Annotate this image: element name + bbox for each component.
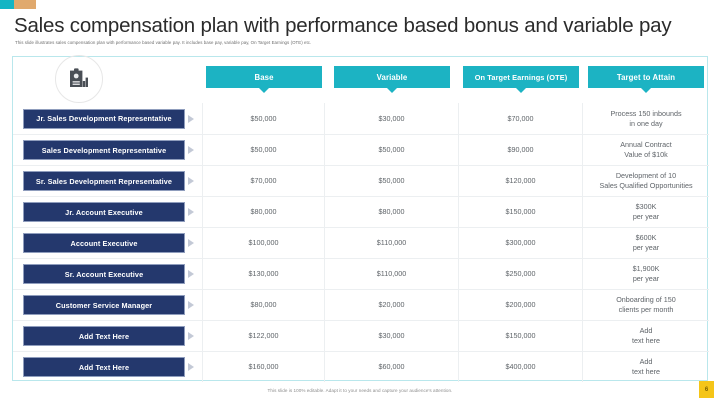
page-title: Sales compensation plan with performance…	[14, 14, 704, 38]
row-label-chip[interactable]: Jr. Account Executive	[23, 202, 185, 222]
cell-target: $600K per year	[583, 228, 709, 258]
table-header-row: Base Variable On Target Earnings (OTE) T…	[13, 57, 709, 103]
cell-variable: $50,000	[325, 166, 459, 196]
arrow-right-icon	[188, 239, 194, 247]
cell-target-line2: per year	[633, 274, 660, 284]
cell-target: $1,900K per year	[583, 259, 709, 289]
table-row: Add Text Here $160,000 $60,000 $400,000 …	[13, 351, 709, 382]
row-label-chip[interactable]: Customer Service Manager	[23, 295, 185, 315]
arrow-right-icon	[188, 301, 194, 309]
cell-variable: $50,000	[325, 135, 459, 165]
table-row: Sales Development Representative $50,000…	[13, 134, 709, 165]
page-subtitle: This slide illustrates sales compensatio…	[15, 40, 675, 45]
column-header-notch	[641, 88, 651, 93]
cell-variable: $20,000	[325, 290, 459, 320]
cell-variable: $110,000	[325, 259, 459, 289]
arrow-right-icon	[188, 363, 194, 371]
cell-target: Annual Contract Value of $10k	[583, 135, 709, 165]
cell-ote: $250,000	[459, 259, 583, 289]
row-label-cell: Jr. Sales Development Representative	[13, 103, 203, 134]
page-number-badge: 6	[699, 381, 714, 398]
cell-target-line1: $1,900K	[633, 264, 660, 274]
cell-target-line1: Process 150 inbounds	[610, 109, 681, 119]
table-row: Sr. Sales Development Representative $70…	[13, 165, 709, 196]
cell-base: $130,000	[203, 259, 325, 289]
arrow-right-icon	[188, 146, 194, 154]
row-label-cell: Account Executive	[13, 228, 203, 258]
cell-target-line1: $600K	[633, 233, 659, 243]
cell-target: $300K per year	[583, 197, 709, 227]
row-label-chip[interactable]: Add Text Here	[23, 326, 185, 346]
row-label-cell: Customer Service Manager	[13, 290, 203, 320]
arrow-right-icon	[188, 177, 194, 185]
row-label-chip[interactable]: Add Text Here	[23, 357, 185, 377]
cell-target: Process 150 inbounds in one day	[583, 103, 709, 134]
corner-bar-teal	[0, 0, 14, 9]
cell-base: $80,000	[203, 197, 325, 227]
table-row: Jr. Account Executive $80,000 $80,000 $1…	[13, 196, 709, 227]
cell-variable: $30,000	[325, 103, 459, 134]
comp-plan-table: Base Variable On Target Earnings (OTE) T…	[12, 56, 708, 381]
column-header-variable: Variable	[325, 57, 459, 103]
cell-base: $50,000	[203, 103, 325, 134]
row-label-chip[interactable]: Sr. Sales Development Representative	[23, 171, 185, 191]
cell-target-line2: text here	[632, 336, 660, 346]
cell-base: $160,000	[203, 352, 325, 382]
row-label-cell: Sr. Sales Development Representative	[13, 166, 203, 196]
cell-base: $80,000	[203, 290, 325, 320]
cell-variable: $30,000	[325, 321, 459, 351]
table-row: Customer Service Manager $80,000 $20,000…	[13, 289, 709, 320]
cell-ote: $200,000	[459, 290, 583, 320]
cell-target-line2: in one day	[610, 119, 681, 129]
table-row: Account Executive $100,000 $110,000 $300…	[13, 227, 709, 258]
cell-target-line2: per year	[633, 243, 659, 253]
corner-bar-orange	[14, 0, 36, 9]
cell-target-line1: Add	[632, 326, 660, 336]
column-header-target-label: Target to Attain	[588, 66, 704, 88]
cell-ote: $400,000	[459, 352, 583, 382]
arrow-right-icon	[188, 115, 194, 123]
cell-base: $122,000	[203, 321, 325, 351]
row-label-chip[interactable]: Jr. Sales Development Representative	[23, 109, 185, 129]
table-row: Sr. Account Executive $130,000 $110,000 …	[13, 258, 709, 289]
row-label-cell: Sr. Account Executive	[13, 259, 203, 289]
arrow-right-icon	[188, 332, 194, 340]
cell-target-line2: Value of $10k	[620, 150, 672, 160]
column-header-ote: On Target Earnings (OTE)	[459, 57, 583, 103]
column-header-notch	[259, 88, 269, 93]
column-header-base-label: Base	[206, 66, 322, 88]
cell-target: Development of 10 Sales Qualified Opport…	[583, 166, 709, 196]
row-label-chip[interactable]: Sr. Account Executive	[23, 264, 185, 284]
cell-target-line1: Annual Contract	[620, 140, 672, 150]
cell-target-line1: Add	[632, 357, 660, 367]
row-label-chip[interactable]: Account Executive	[23, 233, 185, 253]
slide-canvas: Sales compensation plan with performance…	[0, 0, 720, 404]
cell-ote: $120,000	[459, 166, 583, 196]
cell-target-line2: per year	[633, 212, 659, 222]
header-icon-cell	[13, 57, 203, 103]
table-row: Add Text Here $122,000 $30,000 $150,000 …	[13, 320, 709, 351]
cell-ote: $150,000	[459, 321, 583, 351]
column-header-base: Base	[203, 57, 325, 103]
cell-target-line1: $300K	[633, 202, 659, 212]
cell-target-line1: Onboarding of 150	[616, 295, 676, 305]
clipboard-chart-icon	[55, 55, 103, 103]
cell-ote: $300,000	[459, 228, 583, 258]
column-header-target: Target to Attain	[583, 57, 709, 103]
cell-ote: $150,000	[459, 197, 583, 227]
cell-ote: $90,000	[459, 135, 583, 165]
footer-note: This slide is 100% editable. Adapt it to…	[0, 388, 720, 393]
row-label-cell: Add Text Here	[13, 352, 203, 382]
arrow-right-icon	[188, 208, 194, 216]
row-label-cell: Jr. Account Executive	[13, 197, 203, 227]
cell-target-line2: clients per month	[616, 305, 676, 315]
cell-ote: $70,000	[459, 103, 583, 134]
row-label-chip[interactable]: Sales Development Representative	[23, 140, 185, 160]
cell-base: $100,000	[203, 228, 325, 258]
row-label-cell: Add Text Here	[13, 321, 203, 351]
table-row: Jr. Sales Development Representative $50…	[13, 103, 709, 134]
cell-target-line2: Sales Qualified Opportunities	[599, 181, 692, 191]
column-header-variable-label: Variable	[334, 66, 450, 88]
column-header-notch	[516, 88, 526, 93]
cell-target-line2: text here	[632, 367, 660, 377]
arrow-right-icon	[188, 270, 194, 278]
corner-decoration	[0, 0, 36, 9]
column-header-ote-label: On Target Earnings (OTE)	[463, 66, 579, 88]
cell-base: $50,000	[203, 135, 325, 165]
row-label-cell: Sales Development Representative	[13, 135, 203, 165]
cell-target: Add text here	[583, 321, 709, 351]
cell-variable: $60,000	[325, 352, 459, 382]
cell-base: $70,000	[203, 166, 325, 196]
column-header-notch	[387, 88, 397, 93]
cell-target: Add text here	[583, 352, 709, 382]
cell-variable: $110,000	[325, 228, 459, 258]
table-body: Jr. Sales Development Representative $50…	[13, 103, 709, 382]
cell-target: Onboarding of 150 clients per month	[583, 290, 709, 320]
cell-target-line1: Development of 10	[599, 171, 692, 181]
cell-variable: $80,000	[325, 197, 459, 227]
